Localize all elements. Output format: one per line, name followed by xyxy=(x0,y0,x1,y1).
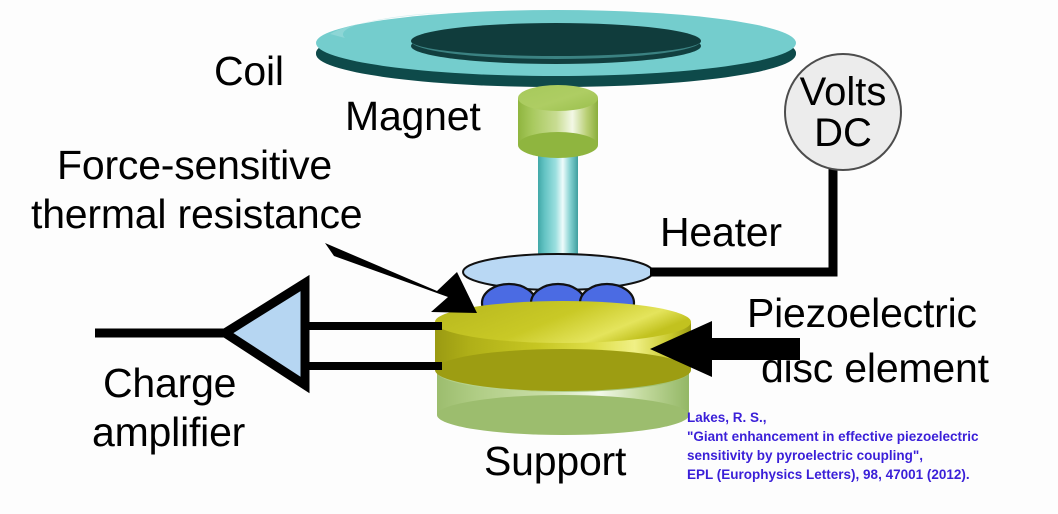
volts-dc-line1: Volts xyxy=(785,72,901,113)
piezoelectric-disc xyxy=(435,301,691,391)
label-heater: Heater xyxy=(660,211,782,254)
label-charge-amplifier-line1: Charge xyxy=(103,362,236,405)
citation-line-3: sensitivity by pyroelectric coupling", xyxy=(687,446,979,465)
charge-amplifier-triangle xyxy=(225,283,305,385)
label-force-sensitive-line2: thermal resistance xyxy=(31,193,362,236)
label-magnet: Magnet xyxy=(345,95,481,138)
label-charge-amplifier-line2: amplifier xyxy=(92,411,245,454)
label-piezoelectric-line1: Piezoelectric xyxy=(747,292,977,335)
citation-line-4: EPL (Europhysics Letters), 98, 47001 (20… xyxy=(687,465,979,484)
arrow-thermal-resistance xyxy=(325,243,477,313)
magnet-cylinder xyxy=(518,85,598,158)
citation-block: Lakes, R. S., "Giant enhancement in effe… xyxy=(687,408,979,485)
citation-line-1: Lakes, R. S., xyxy=(687,408,979,427)
label-coil: Coil xyxy=(214,50,284,93)
volts-dc-line2: DC xyxy=(785,113,901,154)
label-piezoelectric-line2: disc element xyxy=(761,347,989,390)
citation-line-2: "Giant enhancement in effective piezoele… xyxy=(687,427,979,446)
coil-ring xyxy=(316,10,796,87)
label-support: Support xyxy=(484,440,626,483)
label-force-sensitive-line1: Force-sensitive xyxy=(57,144,332,187)
diagram-canvas: Coil Magnet Force-sensitive thermal resi… xyxy=(0,0,1058,514)
